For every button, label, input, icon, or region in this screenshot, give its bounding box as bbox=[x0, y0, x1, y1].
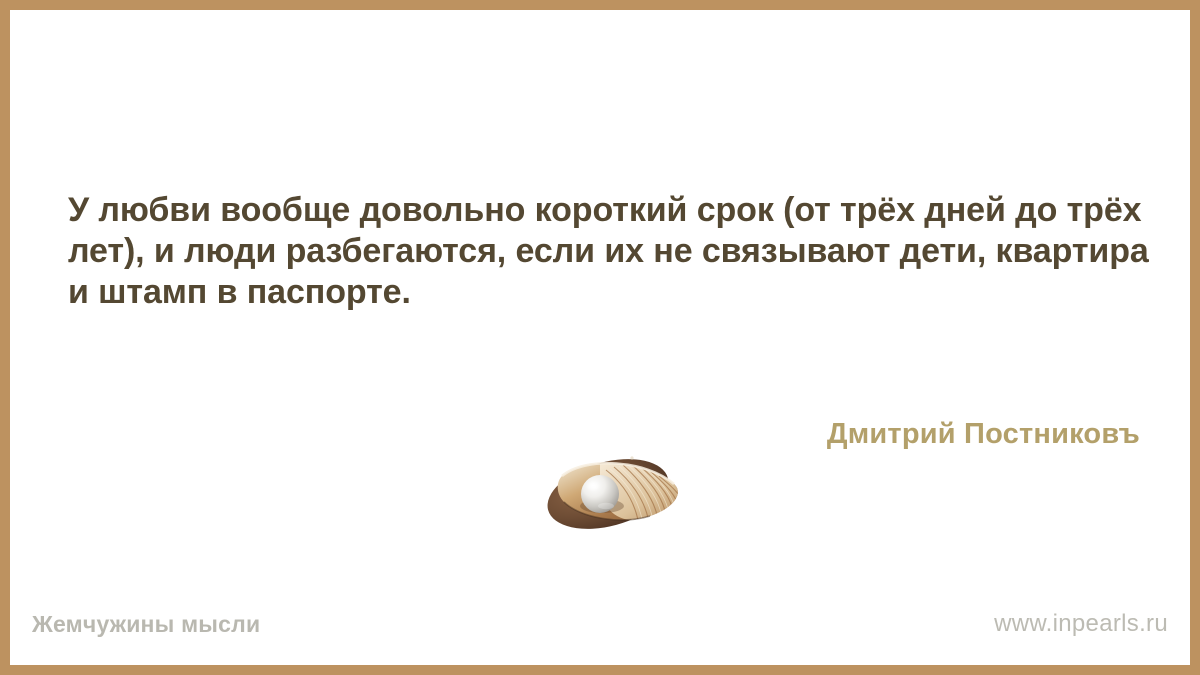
author-name: Дмитрий Постниковъ bbox=[827, 418, 1140, 450]
brand-name: Жемчужины мысли bbox=[32, 611, 260, 638]
author-block: Дмитрий Постниковъ bbox=[440, 418, 1140, 451]
site-url[interactable]: www.inpearls.ru bbox=[994, 610, 1168, 638]
oyster-shell-with-pearl-icon bbox=[534, 450, 690, 530]
quote-card: У любви вообще довольно короткий срок (о… bbox=[0, 0, 1200, 675]
footer: Жемчужины мысли www.inpearls.ru bbox=[10, 609, 1190, 639]
quote-block: У любви вообще довольно короткий срок (о… bbox=[68, 190, 1158, 313]
quote-text: У любви вообще довольно короткий срок (о… bbox=[68, 190, 1158, 313]
